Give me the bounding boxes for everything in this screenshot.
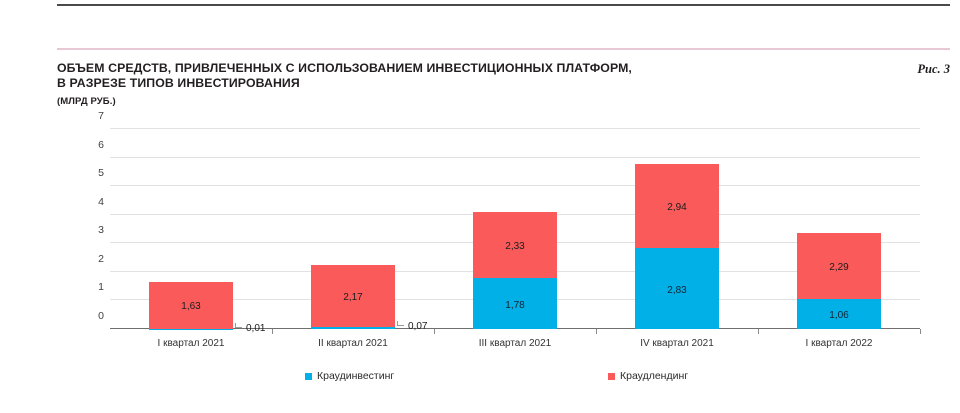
x-axis-tick-mark [758,329,759,334]
x-axis-tick-mark [272,329,273,334]
y-axis-tick-label: 4 [64,196,104,208]
bar-value-label-crowdlending: 2,17 [311,292,395,303]
bar-value-label-crowdinvesting: 2,83 [635,285,719,296]
bar-value-label-crowdlending: 1,63 [149,301,233,312]
gridline [110,128,920,129]
x-axis-category-label: IV квартал 2021 [596,338,758,349]
legend-swatch-icon [608,373,615,380]
bar-value-label-crowdlending: 2,29 [797,262,881,273]
bar-value-label-crowdinvesting: 1,78 [473,300,557,311]
bar-value-label-crowdlending: 2,33 [473,241,557,252]
x-axis-category-label: III квартал 2021 [434,338,596,349]
gridline [110,185,920,186]
y-axis-tick-label: 3 [64,224,104,236]
bar-stack[interactable]: 2,331,78 [473,212,557,329]
figure-number-label: Рис. 3 [917,62,950,77]
chart-area: 012345670,011,630,072,172,331,782,942,83… [0,120,960,350]
chart-title-block: ОБЪЕМ СРЕДСТВ, ПРИВЛЕЧЕННЫХ С ИСПОЛЬЗОВА… [57,61,757,107]
y-axis-tick-label: 6 [64,139,104,151]
bar-stack[interactable]: 2,291,06 [797,233,881,329]
x-axis-category-label: II квартал 2021 [272,338,434,349]
x-axis-tick-mark [920,329,921,334]
y-axis-tick-label: 0 [64,310,104,322]
plot-area: 012345670,011,630,072,172,331,782,942,83… [110,129,920,329]
legend-swatch-icon [305,373,312,380]
callout-leader-line [397,321,404,326]
figure-page: ОБЪЕМ СРЕДСТВ, ПРИВЛЕЧЕННЫХ С ИСПОЛЬЗОВА… [0,0,960,413]
chart-title-line-2: В РАЗРЕЗЕ ТИПОВ ИНВЕСТИРОВАНИЯ [57,76,757,91]
bar-stack[interactable]: 2,17 [311,265,395,329]
gridline [110,157,920,158]
x-axis-labels: I квартал 2021II квартал 2021III квартал… [110,338,920,358]
x-axis-category-label: I квартал 2021 [110,338,272,349]
callout-leader-line [235,323,242,328]
bar-value-label-crowdinvesting: 1,06 [797,310,881,321]
y-axis-tick-label: 5 [64,167,104,179]
top-divider-dark [57,4,950,6]
bar-value-label-crowdlending: 2,94 [635,202,719,213]
legend-label: Краудинвестинг [317,370,394,382]
x-axis-category-label: I квартал 2022 [758,338,920,349]
bar-value-callout-crowdinvesting: 0,07 [408,321,427,332]
y-axis-tick-label: 7 [64,110,104,122]
bar-stack[interactable]: 2,942,83 [635,164,719,329]
x-axis-tick-mark [596,329,597,334]
y-axis-tick-label: 2 [64,253,104,265]
bar-value-callout-crowdinvesting: 0,01 [246,323,265,334]
bar-stack[interactable]: 1,63 [149,282,233,329]
chart-legend: КраудинвестингКраудлендинг [0,370,960,390]
legend-label: Краудлендинг [620,370,688,382]
chart-units-label: (МЛРД РУБ.) [57,96,757,107]
y-axis-tick-label: 1 [64,281,104,293]
legend-item[interactable]: Краудинвестинг [305,370,394,382]
bar-segment-crowdinvesting[interactable] [311,327,395,329]
legend-item[interactable]: Краудлендинг [608,370,688,382]
title-divider-pink [57,48,950,50]
x-axis-tick-mark [434,329,435,334]
chart-title-line-1: ОБЪЕМ СРЕДСТВ, ПРИВЛЕЧЕННЫХ С ИСПОЛЬЗОВА… [57,61,757,76]
